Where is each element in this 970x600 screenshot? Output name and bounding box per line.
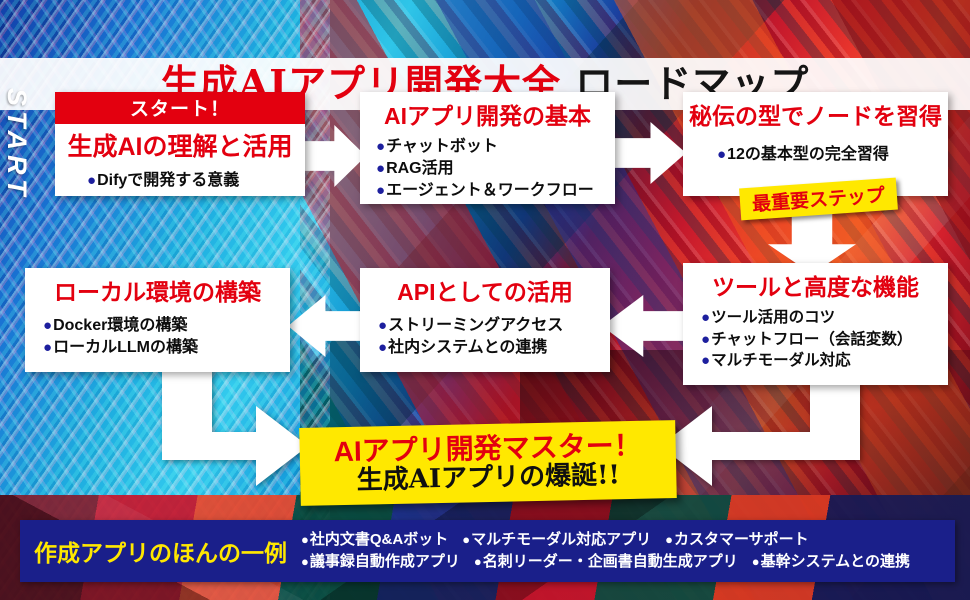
node-basics[interactable]: AIアプリ開発の基本 ●チャットボット ●RAG活用 ●エージェント＆ワークフロ… (360, 92, 615, 204)
bullet-icon: ● (701, 352, 710, 369)
node-api-usage[interactable]: APIとしての活用 ●ストリーミングアクセス ●社内システムとの連携 (360, 268, 610, 372)
node-master-goal-line2: 生成AIアプリの爆誕!! (356, 461, 620, 496)
node-secret-patterns-list: ●12の基本型の完全習得 (683, 134, 948, 172)
bullet-icon: ● (701, 309, 710, 326)
bullet-icon: ● (378, 339, 387, 356)
bullet-icon: ● (462, 532, 470, 547)
example-item-label: マルチモーダル対応アプリ (471, 531, 651, 548)
example-item: ●基幹システムとの連携 (752, 552, 924, 572)
list-item-label: エージェント＆ワークフロー (386, 182, 594, 199)
list-item: ●エージェント＆ワークフロー (376, 180, 615, 202)
node-api-usage-list: ●ストリーミングアクセス ●社内システムとの連携 (360, 310, 610, 365)
node-api-usage-title: APIとしての活用 (360, 268, 610, 310)
node-tools-advanced-title: ツールと高度な機能 (683, 263, 948, 305)
list-item-label: ローカルLLMの構築 (53, 339, 198, 356)
node-local-environment-title: ローカル環境の構築 (25, 268, 290, 310)
list-item: ●Docker環境の構築 (43, 315, 290, 337)
node-local-environment[interactable]: ローカル環境の構築 ●Docker環境の構築 ●ローカルLLMの構築 (25, 268, 290, 372)
list-item: ●社内システムとの連携 (378, 337, 610, 359)
list-item: ●Difyで開発する意義 (87, 170, 305, 192)
list-item: ●RAG活用 (376, 158, 615, 180)
list-item: ●ツール活用のコツ (701, 307, 948, 329)
example-item: ●マルチモーダル対応アプリ (462, 530, 665, 550)
examples-bar: 作成アプリのほんの一例 ●社内文書Q&Aボット ●マルチモーダル対応アプリ ●カ… (20, 520, 955, 582)
list-item-label: マルチモーダル対応 (711, 352, 851, 369)
node-secret-patterns[interactable]: 秘伝の型でノードを習得 ●12の基本型の完全習得 (683, 92, 948, 196)
example-item-label: カスタマーサポート (674, 531, 809, 548)
examples-row: ●社内文書Q&Aボット ●マルチモーダル対応アプリ ●カスタマーサポート (301, 530, 924, 550)
node-basics-list: ●チャットボット ●RAG活用 ●エージェント＆ワークフロー (360, 134, 615, 204)
examples-grid: ●社内文書Q&Aボット ●マルチモーダル対応アプリ ●カスタマーサポート ●議事… (295, 530, 924, 572)
list-item-label: ストリーミングアクセス (388, 317, 563, 334)
example-item-label: 議事録自動作成アプリ (310, 553, 460, 570)
bullet-icon: ● (665, 532, 673, 547)
list-item: ●ローカルLLMの構築 (43, 337, 290, 359)
start-marker: START (0, 88, 32, 208)
list-item-label: 社内システムとの連携 (388, 339, 547, 356)
bullet-icon: ● (376, 182, 385, 199)
example-item: ●社内文書Q&Aボット (301, 530, 462, 550)
node-tools-advanced[interactable]: ツールと高度な機能 ●ツール活用のコツ ●チャットフロー（会話変数） ●マルチモ… (683, 263, 948, 385)
node-local-environment-list: ●Docker環境の構築 ●ローカルLLMの構築 (25, 310, 290, 365)
bullet-icon: ● (301, 532, 309, 547)
bullet-icon: ● (301, 554, 309, 569)
example-item: ●名刺リーダー・企画書自動生成アプリ (474, 552, 752, 572)
bullet-icon: ● (376, 138, 385, 155)
bullet-icon: ● (474, 554, 482, 569)
example-item-label: 名刺リーダー・企画書自動生成アプリ (483, 553, 738, 570)
node-tools-advanced-list: ●ツール活用のコツ ●チャットフロー（会話変数） ●マルチモーダル対応 (683, 305, 948, 378)
node-start[interactable]: スタート！ 生成AIの理解と活用 ●Difyで開発する意義 (55, 92, 305, 196)
bullet-icon: ● (43, 339, 52, 356)
arrow-local-to-master-icon (60, 360, 310, 490)
examples-label: 作成アプリのほんの一例 (20, 534, 295, 568)
bullet-icon: ● (701, 331, 710, 348)
node-start-title: 生成AIの理解と活用 (55, 124, 305, 166)
list-item: ●ストリーミングアクセス (378, 315, 610, 337)
list-item: ●12の基本型の完全習得 (717, 144, 948, 166)
list-item-label: RAG活用 (386, 160, 454, 177)
bullet-icon: ● (717, 146, 726, 163)
example-item-label: 基幹システムとの連携 (761, 553, 910, 570)
node-master-goal[interactable]: AIアプリ開発マスター！ 生成AIアプリの爆誕!! (299, 420, 677, 506)
example-item-label: 社内文書Q&Aボット (310, 531, 448, 548)
node-start-list: ●Difyで開発する意義 (55, 166, 305, 196)
bullet-icon: ● (43, 317, 52, 334)
bullet-icon: ● (752, 554, 760, 569)
list-item: ●チャットボット (376, 136, 615, 158)
list-item-label: ツール活用のコツ (711, 309, 835, 326)
list-item-label: Difyで開発する意義 (97, 172, 239, 189)
example-item: ●カスタマーサポート (665, 530, 823, 550)
list-item: ●チャットフロー（会話変数） (701, 329, 948, 351)
list-item-label: チャットボット (386, 138, 498, 155)
node-secret-patterns-title: 秘伝の型でノードを習得 (683, 92, 948, 134)
list-item-label: Docker環境の構築 (53, 317, 187, 334)
list-item-label: チャットフロー（会話変数） (711, 331, 912, 348)
examples-row: ●議事録自動作成アプリ ●名刺リーダー・企画書自動生成アプリ ●基幹システムとの… (301, 552, 924, 572)
roadmap-infographic: 生成AIアプリ開発大全 ロードマップ START スタート！ 生成AIの理解と活… (0, 0, 970, 600)
bullet-icon: ● (376, 160, 385, 177)
bullet-icon: ● (378, 317, 387, 334)
node-basics-title: AIアプリ開発の基本 (360, 92, 615, 134)
bullet-icon: ● (87, 172, 96, 189)
node-start-header: スタート！ (55, 92, 305, 124)
list-item-label: 12の基本型の完全習得 (727, 146, 889, 163)
example-item: ●議事録自動作成アプリ (301, 552, 474, 572)
list-item: ●マルチモーダル対応 (701, 350, 948, 372)
